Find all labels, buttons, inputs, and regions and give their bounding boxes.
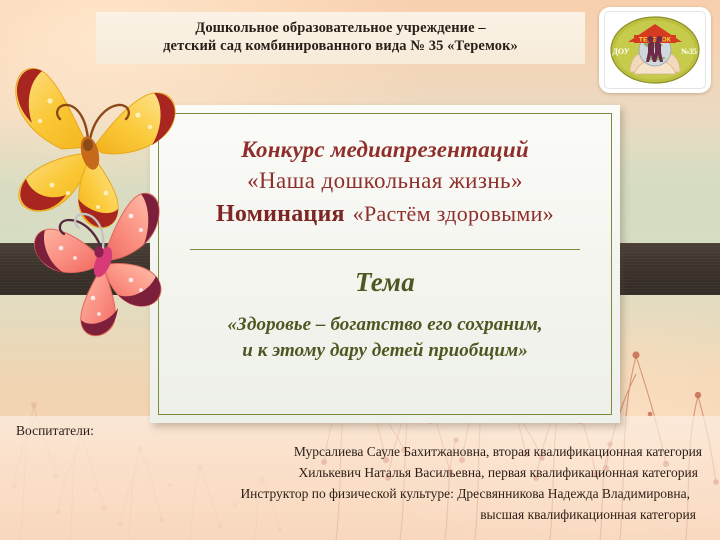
svg-text:ДОУ: ДОУ [612,47,629,56]
nomination-label: Номинация [216,201,345,227]
theme-label: Тема [176,267,594,298]
credits-line-2: Хилькевич Наталья Васильевна, первая ква… [0,464,698,482]
credits-block: Воспитатели: Мурсалиева Сауле Бахитжанов… [0,416,720,540]
contest-name: «Наша дошкольная жизнь» [176,167,594,196]
presentation-slide: Дошкольное образовательное учреждение – … [0,0,720,540]
credits-line-1: Мурсалиева Сауле Бахитжановна, вторая кв… [0,443,702,461]
nomination-row: Номинация«Растём здоровыми» [176,201,594,228]
svg-text:№35: №35 [681,47,697,56]
main-content-panel: Конкурс медиапрезентаций «Наша дошкольна… [150,105,620,423]
panel-divider [190,249,580,250]
credits-heading: Воспитатели: [16,422,94,440]
nomination-value: «Растём здоровыми» [353,201,554,226]
teremok-emblem-icon: ТЕРЕМОК ДОУ №35 [608,14,702,86]
credits-line-4: высшая квалификационная категория [0,506,696,524]
contest-label: Конкурс медиапрезентаций [176,137,594,163]
institution-header: Дошкольное образовательное учреждение – … [96,12,585,64]
theme-quote-line-2: и к этому дару детей приобщим» [176,338,594,365]
theme-quote-line-1: «Здоровье – богатство его сохраним, [176,312,594,339]
institution-line-1: Дошкольное образовательное учреждение – [163,20,518,38]
svg-text:ТЕРЕМОК: ТЕРЕМОК [639,37,671,44]
institution-line-2: детский сад комбинированного вида № 35 «… [163,38,518,56]
kindergarten-logo: ТЕРЕМОК ДОУ №35 [599,7,711,93]
credits-line-3: Инструктор по физической культуре: Дресв… [0,485,690,503]
